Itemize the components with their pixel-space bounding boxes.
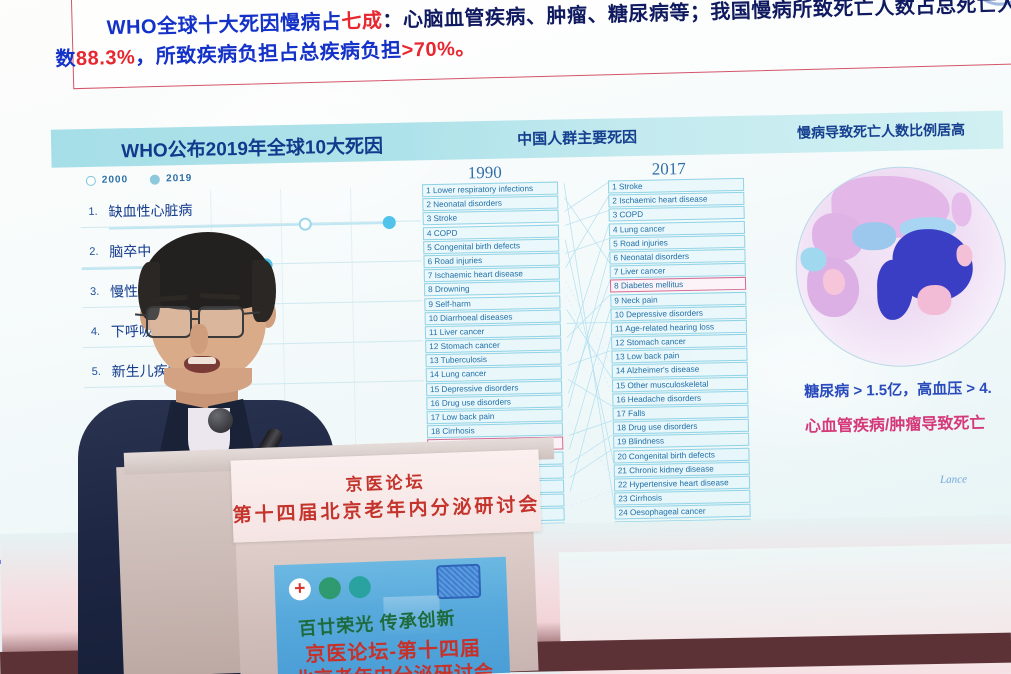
rank-item-2017: 14 Alzheimer's disease: [612, 362, 748, 378]
rank-item-2017: 19 Blindness: [613, 433, 749, 449]
map-region-ne-asia: [951, 192, 972, 226]
rank-item-2017: 21 Chronic kidney disease: [614, 462, 750, 478]
rank-item-1990: 12 Stomach cancer: [425, 338, 561, 354]
callout-l1-red: 七成: [341, 10, 383, 33]
band-title-who: WHO公布2019年全球10大死因: [121, 131, 383, 163]
legend-filled-dot-icon: [150, 174, 160, 184]
lectern-side: [116, 463, 246, 674]
rank-item-2017: 4 Lung cancer: [609, 220, 745, 236]
map-region-india: [877, 259, 914, 320]
rank-item-1990: 10 Diarrhoeal diseases: [425, 309, 561, 325]
rank-item-2017: 6 Neonatal disorders: [609, 249, 745, 265]
rank-list-2017: 1 Stroke2 Ischaemic heart disease3 COPD4…: [608, 178, 751, 535]
band-title-china: 中国人群主要死因: [517, 126, 637, 149]
chart-row-label: 缺血性心脏病: [108, 200, 192, 222]
rank-item-1990: 8 Drowning: [424, 281, 560, 297]
map-region-sea: [917, 285, 952, 316]
event-banner: 百廿荣光 传承创新 京医论坛-第十四届 北京老年内分泌研讨会: [274, 557, 510, 674]
rank-item-1990: 1 Lower respiratory infections: [422, 182, 558, 198]
speaker-nose: [190, 324, 208, 354]
globe-graticule: [794, 165, 1008, 369]
rank-item-1990: 5 Congenital birth defects: [423, 238, 559, 254]
rank-item-2017: 9 Neck pain: [610, 291, 746, 307]
chart-point-2019: [383, 216, 396, 229]
rank-item-2017: 22 Hypertensive heart disease: [614, 476, 750, 492]
rank-item-2017: 16 Headache disorders: [612, 391, 748, 407]
green-circle-logo-icon: [318, 577, 341, 600]
callout-l2-c: 。: [455, 38, 476, 61]
rank-item-1990: 13 Tuberculosis: [425, 352, 561, 368]
citation-lancet: Lance: [940, 473, 967, 486]
callout-l1-b: ：心脑血管疾病、肿瘤、糖尿病等；我国慢病所致死亡人数占总死亡人: [382, 0, 1011, 32]
eyeglasses-lens-left-icon: [146, 306, 192, 338]
rank-item-2017: 20 Congenital birth defects: [613, 447, 749, 463]
eyeglasses-temple-left-icon: [135, 313, 148, 317]
lectern-sign: 京医论坛 第十四届北京老年内分泌研讨会: [231, 449, 542, 542]
rank-item-2017: 10 Depressive disorders: [611, 305, 747, 321]
key-message-callout: WHO全球十大死因慢病占七成：心脑血管疾病、肿瘤、糖尿病等；我国慢病所致死亡人数…: [71, 0, 1011, 89]
eyeglasses-bridge-icon: [192, 318, 200, 320]
rank-item-2017: 24 Oesophageal cancer: [614, 504, 750, 520]
map-region-middle-east: [800, 247, 826, 272]
rank-item-1990: 17 Low back pain: [427, 409, 563, 425]
rank-item-2017: 18 Drug use disorders: [613, 419, 749, 435]
rank-item-1990: 9 Self-harm: [424, 295, 560, 311]
red-cross-logo-icon: [288, 578, 311, 601]
rank-item-1990: 11 Liver cancer: [425, 323, 561, 339]
rank-item-2017: 15 Other musculoskeletal: [612, 376, 748, 392]
callout-line-1: WHO全球十大死因慢病占七成：心脑血管疾病、肿瘤、糖尿病等；我国慢病所致死亡人数…: [106, 0, 1011, 40]
rank-item-1990: 18 Cirrhosis: [427, 423, 563, 439]
map-region-central-asia: [852, 222, 897, 251]
rank-item-1990: 2 Neonatal disorders: [422, 196, 558, 212]
lectern: 京医论坛 第十四届北京老年内分泌研讨会 百廿荣光 传承创新 京医论坛-第十四届 …: [128, 445, 548, 674]
world-map: [794, 165, 1008, 369]
stat-line-cvd-cancer: 心血管疾病/肿瘤导致死亡: [805, 409, 986, 437]
rank-item-2017: 7 Liver cancer: [610, 263, 746, 279]
rank-item-2017: 2 Ischaemic heart disease: [608, 192, 744, 208]
legend-item-2000: 2000: [86, 174, 128, 186]
rank-item-1990: 16 Drug use disorders: [426, 394, 562, 410]
callout-l2-b: ，所致疾病负担占总疾病负担: [135, 40, 402, 69]
legend-hollow-dot-icon: [86, 175, 96, 185]
rank-item-1990: 15 Depressive disorders: [426, 380, 562, 396]
legend-label-2019: 2019: [166, 173, 192, 185]
rank-item-2017: 1 Stroke: [608, 178, 744, 194]
stat-line-diabetes-hypertension: 糖尿病 > 1.5亿，高血压 > 4.: [804, 377, 992, 402]
callout-l2-red: 88.3%: [76, 47, 136, 71]
chart-row: 1. 缺血性心脏病: [80, 190, 421, 237]
rank-item-2017: 8 Diabetes mellitus: [610, 277, 746, 293]
rank-item-2017: 13 Low back pain: [611, 348, 747, 364]
speaker-teeth: [188, 357, 216, 364]
microphone-head-icon: [208, 408, 233, 433]
legend-label-2000: 2000: [102, 174, 128, 186]
chart-row-rank: 1.: [88, 206, 97, 218]
teal-circle-logo-icon: [348, 576, 371, 599]
rank-item-2017: 11 Age-related hearing loss: [611, 320, 747, 336]
chart-legend: 2000 2019: [86, 173, 193, 186]
band-title-ncd: 慢病导致死亡人数比例居高: [797, 119, 965, 142]
conference-stage: 人民健康 WHO全球十大死因慢病占七成：心脑血管疾病、肿瘤、糖尿病等；我国慢病所…: [0, 0, 1011, 674]
rank-item-2017: 17 Falls: [613, 405, 749, 421]
rank-item-1990: 6 Road injuries: [423, 252, 559, 268]
map-region-japan: [956, 244, 972, 266]
rank-item-2017: 12 Stomach cancer: [611, 334, 747, 350]
rank-header-1990: 1990: [468, 163, 502, 184]
rank-header-2017: 2017: [652, 159, 686, 180]
legend-item-2019: 2019: [150, 173, 192, 185]
rank-item-1990: 4 COPD: [423, 224, 559, 240]
rank-item-1990: 3 Stroke: [423, 210, 559, 226]
callout-l2-red2: >70%: [401, 38, 455, 61]
rank-item-1990: 7 Ischaemic heart disease: [424, 267, 560, 283]
rank-item-2017: 5 Road injuries: [609, 235, 745, 251]
map-region-arabia: [823, 269, 846, 295]
rank-item-2017: 23 Cirrhosis: [614, 490, 750, 506]
square-seal-logo-icon: [436, 564, 481, 600]
rank-item-1990: 14 Lung cancer: [426, 366, 562, 382]
rank-item-2017: 3 COPD: [609, 206, 745, 222]
callout-l2-a: 数: [55, 48, 76, 71]
chart-point-2000: [299, 218, 312, 231]
